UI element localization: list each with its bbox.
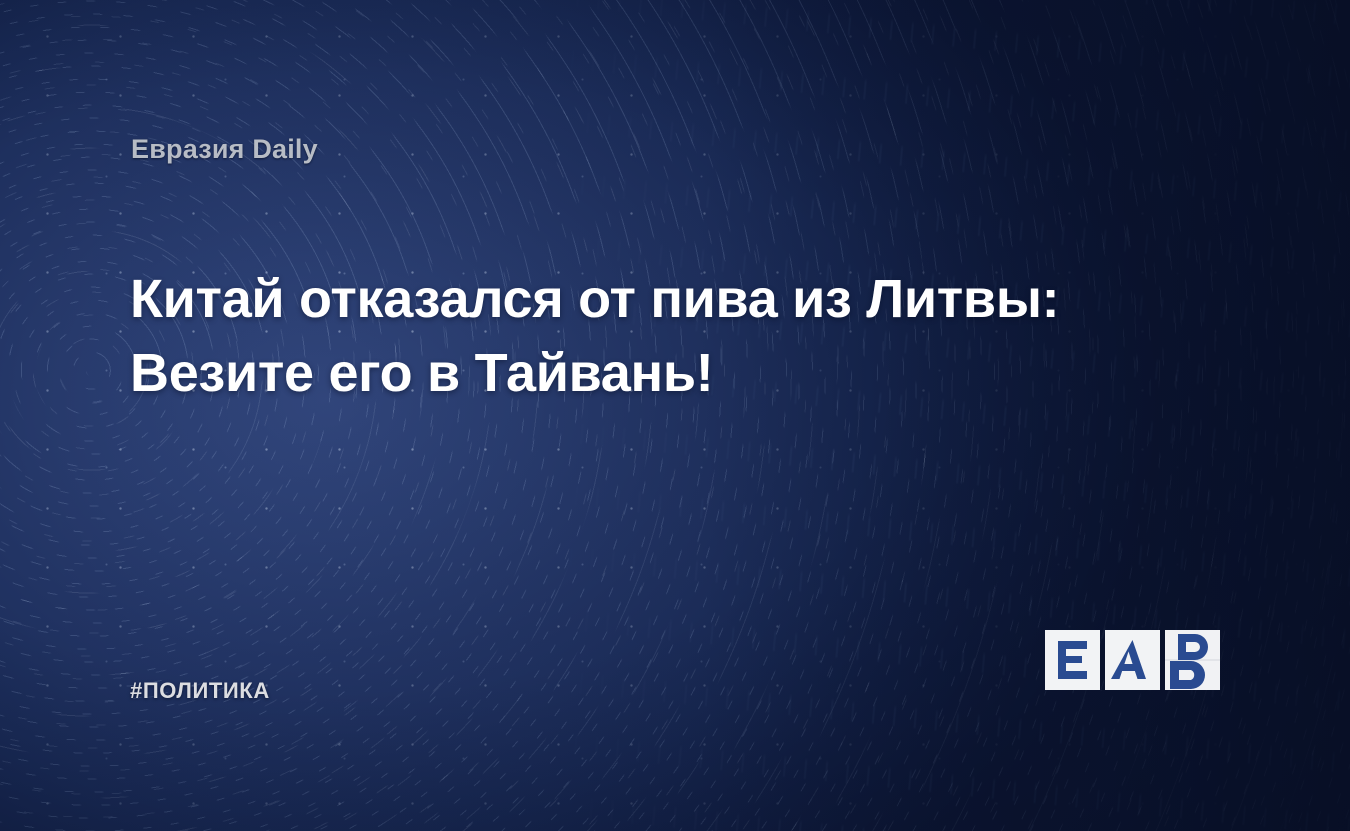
eadaily-logo: [1045, 630, 1220, 690]
headline: Китай отказался от пива из Литвы: Везите…: [130, 262, 1120, 410]
category-hashtag: #ПОЛИТИКА: [130, 678, 270, 704]
site-name: Евразия Daily: [131, 134, 318, 165]
card-content: Евразия Daily Китай отказался от пива из…: [0, 0, 1350, 831]
headline-line-1: Китай отказался от пива из Литвы:: [130, 262, 1120, 336]
news-share-card: Евразия Daily Китай отказался от пива из…: [0, 0, 1350, 831]
eadaily-logo-mark: [1045, 630, 1220, 690]
headline-line-2: Везите его в Тайвань!: [130, 336, 1120, 410]
